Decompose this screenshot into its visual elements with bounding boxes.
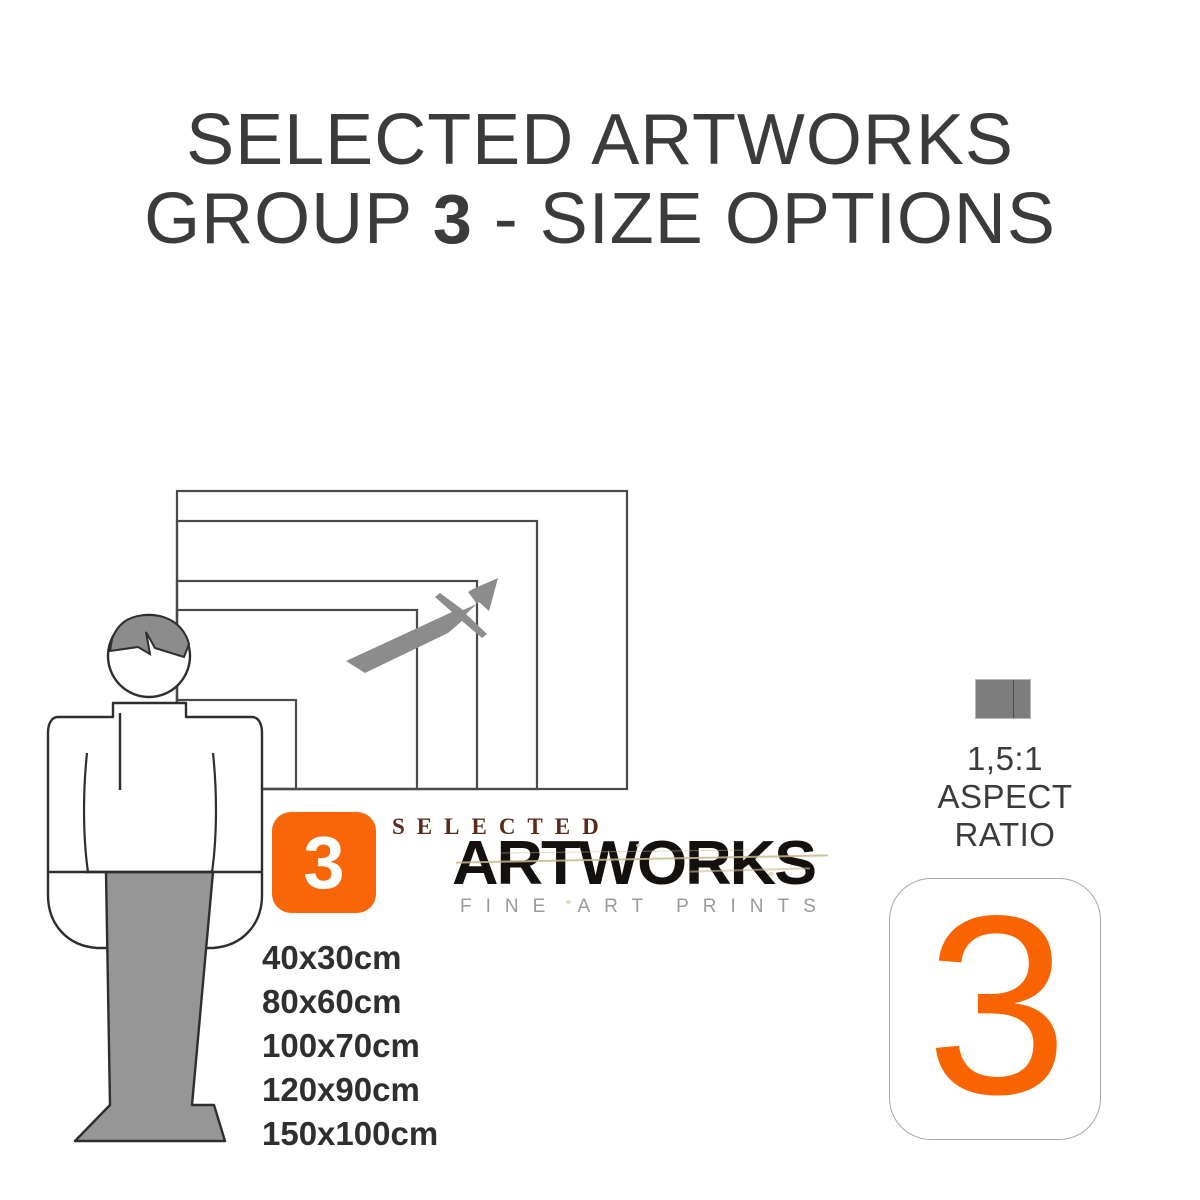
- frame-120x90cm: [177, 521, 537, 789]
- frame-80x60cm: [177, 610, 417, 789]
- logo-grunge-speck: [636, 844, 640, 847]
- title-group-number: 3: [433, 180, 473, 258]
- person-hair: [110, 615, 189, 657]
- aspect-label-line-1: ASPECT: [880, 778, 1130, 816]
- size-option: 100x70cm: [262, 1024, 438, 1068]
- aspect-ratio-value: 1,5:1: [880, 740, 1130, 778]
- logo-artworks-text: ARTWORKS: [452, 828, 815, 899]
- logo-tagline: FINE ART PRINTS: [460, 896, 830, 918]
- person-torso: [48, 703, 262, 948]
- frame-150x100cm: [177, 491, 627, 789]
- size-option: 150x100cm: [262, 1112, 438, 1156]
- aspect-label-line-2: RATIO: [880, 816, 1130, 854]
- aspect-ratio-icon: [975, 679, 1031, 719]
- poster-canvas: SELECTED ARTWORKS GROUP 3 - SIZE OPTIONS: [0, 0, 1200, 1200]
- frame-100x70cm: [177, 581, 477, 789]
- group-badge: 3: [272, 812, 376, 913]
- title-line-2-prefix: GROUP: [144, 179, 433, 259]
- group-number-card: 3: [889, 878, 1101, 1140]
- person-lower-body: [75, 872, 225, 1141]
- person-arm-seam-right: [212, 753, 216, 872]
- person-arm-seam-left: [84, 753, 88, 872]
- logo-grunge-speck: [768, 872, 774, 876]
- person-silhouette: [48, 615, 262, 1141]
- size-option: 80x60cm: [262, 980, 438, 1024]
- aspect-ratio-divider: [1013, 680, 1014, 718]
- title-line-2: GROUP 3 - SIZE OPTIONS: [0, 183, 1200, 256]
- person-head: [108, 615, 190, 697]
- group-number-large: 3: [926, 894, 1064, 1118]
- frame-rectangles: [177, 491, 627, 789]
- growth-arrow-icon: [346, 578, 498, 673]
- size-option: 120x90cm: [262, 1068, 438, 1112]
- title-line-1: SELECTED ARTWORKS: [0, 104, 1200, 177]
- frame-40x30cm: [177, 700, 296, 789]
- brand-logo: SELECTED ARTWORKS FINE ART PRINTS: [390, 808, 830, 924]
- title-line-2-suffix: - SIZE OPTIONS: [473, 179, 1056, 259]
- size-option: 40x30cm: [262, 936, 438, 980]
- size-options-list: 40x30cm 80x60cm 100x70cm 120x90cm 150x10…: [262, 936, 438, 1156]
- page-title: SELECTED ARTWORKS GROUP 3 - SIZE OPTIONS: [0, 104, 1200, 257]
- aspect-ratio-label: 1,5:1 ASPECT RATIO: [880, 740, 1130, 854]
